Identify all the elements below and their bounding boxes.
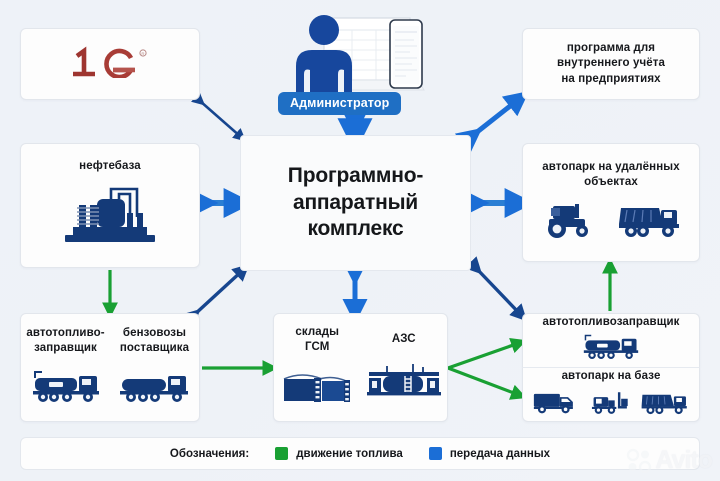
smartphone-icon [390,20,422,88]
avito-watermark: Avito [626,446,712,475]
legend-swatch-blue [429,447,442,460]
fuel-tanker-truck-icon [29,368,103,409]
forklift-icon [588,389,630,420]
dump-truck-icon [640,389,690,420]
legend-swatch-green [275,447,288,460]
arrow-azs-to-base-fleet [448,368,519,395]
arrow-hub-to-right-tanker [476,268,521,315]
card-remote-fleet-label: автопарк на удалённых объектах [536,160,685,191]
subcard-fuel-depot[interactable]: склады ГСМ [274,325,361,411]
fuel-tanker-truck-icon [578,333,644,366]
card-fuel-depot-and-station[interactable]: склады ГСМ [273,313,448,422]
card-remote-fleet[interactable]: автопарк на удалённых объектах [522,143,700,262]
fuel-storage-tanks-icon [280,367,354,410]
arrow-azs-to-tanker [448,343,519,368]
arrow-tankers-to-hub [194,270,243,315]
1c-logo-icon: R [69,46,151,83]
card-internal-accounting-label: программа для внутреннего учёта на предп… [551,41,671,87]
base-fleet-label: автопарк на базе [556,369,667,384]
arrow-hub-to-internal-accounting [472,99,519,136]
dump-truck-icon [617,198,683,245]
subcard-supplier-tankers[interactable]: бензовозы поставщика [110,326,199,410]
gas-station-label: АЗС [386,332,422,347]
card-oil-depot[interactable]: нефтебаза [20,143,200,268]
legend-label-data-flow: передача данных [450,448,550,460]
legend-item-fuel-flow: движение топлива [275,447,403,460]
legend-label-fuel-flow: движение топлива [296,448,403,460]
legend-bar: Обозначения: движение топлива передача д… [20,437,700,470]
legend-item-data-flow: передача данных [429,447,550,460]
card-base-fleet[interactable]: автопарк на базе [522,368,700,422]
fuel-tanker-label: автотопливо- заправщик [20,326,110,357]
subcard-gas-station[interactable]: АЗС [361,332,448,402]
legend-title: Обозначения: [170,448,249,460]
central-hub-card[interactable]: Программно- аппаратный комплекс [240,135,471,271]
administrator-badge: Администратор [278,92,401,115]
arrow-1c-to-hub [200,101,241,137]
tractor-icon [539,198,599,245]
card-fuel-tankers[interactable]: автотопливо- заправщик [20,313,200,422]
svg-text:R: R [141,51,144,56]
card-right-fuel-tanker[interactable]: автотопливозаправщик [522,313,700,368]
avito-logo-icon [626,448,652,474]
subcard-fuel-tanker[interactable]: автотопливо- заправщик [21,326,110,410]
van-icon [532,389,578,420]
fuel-depot-label: склады ГСМ [289,325,345,356]
gas-station-tank-icon [365,360,443,403]
oil-depot-icon [57,181,163,252]
card-oil-depot-label: нефтебаза [73,159,147,174]
card-internal-accounting[interactable]: программа для внутреннего учёта на предп… [522,28,700,100]
diagram-canvas: R [0,0,720,481]
tanker-truck-icon [118,368,192,409]
right-fuel-tanker-label: автотопливозаправщик [536,315,685,330]
card-1c[interactable]: R [20,28,200,100]
supplier-tankers-label: бензовозы поставщика [114,326,195,357]
avito-watermark-text: Avito [655,446,712,475]
hub-label: Программно- аппаратный комплекс [288,163,423,244]
